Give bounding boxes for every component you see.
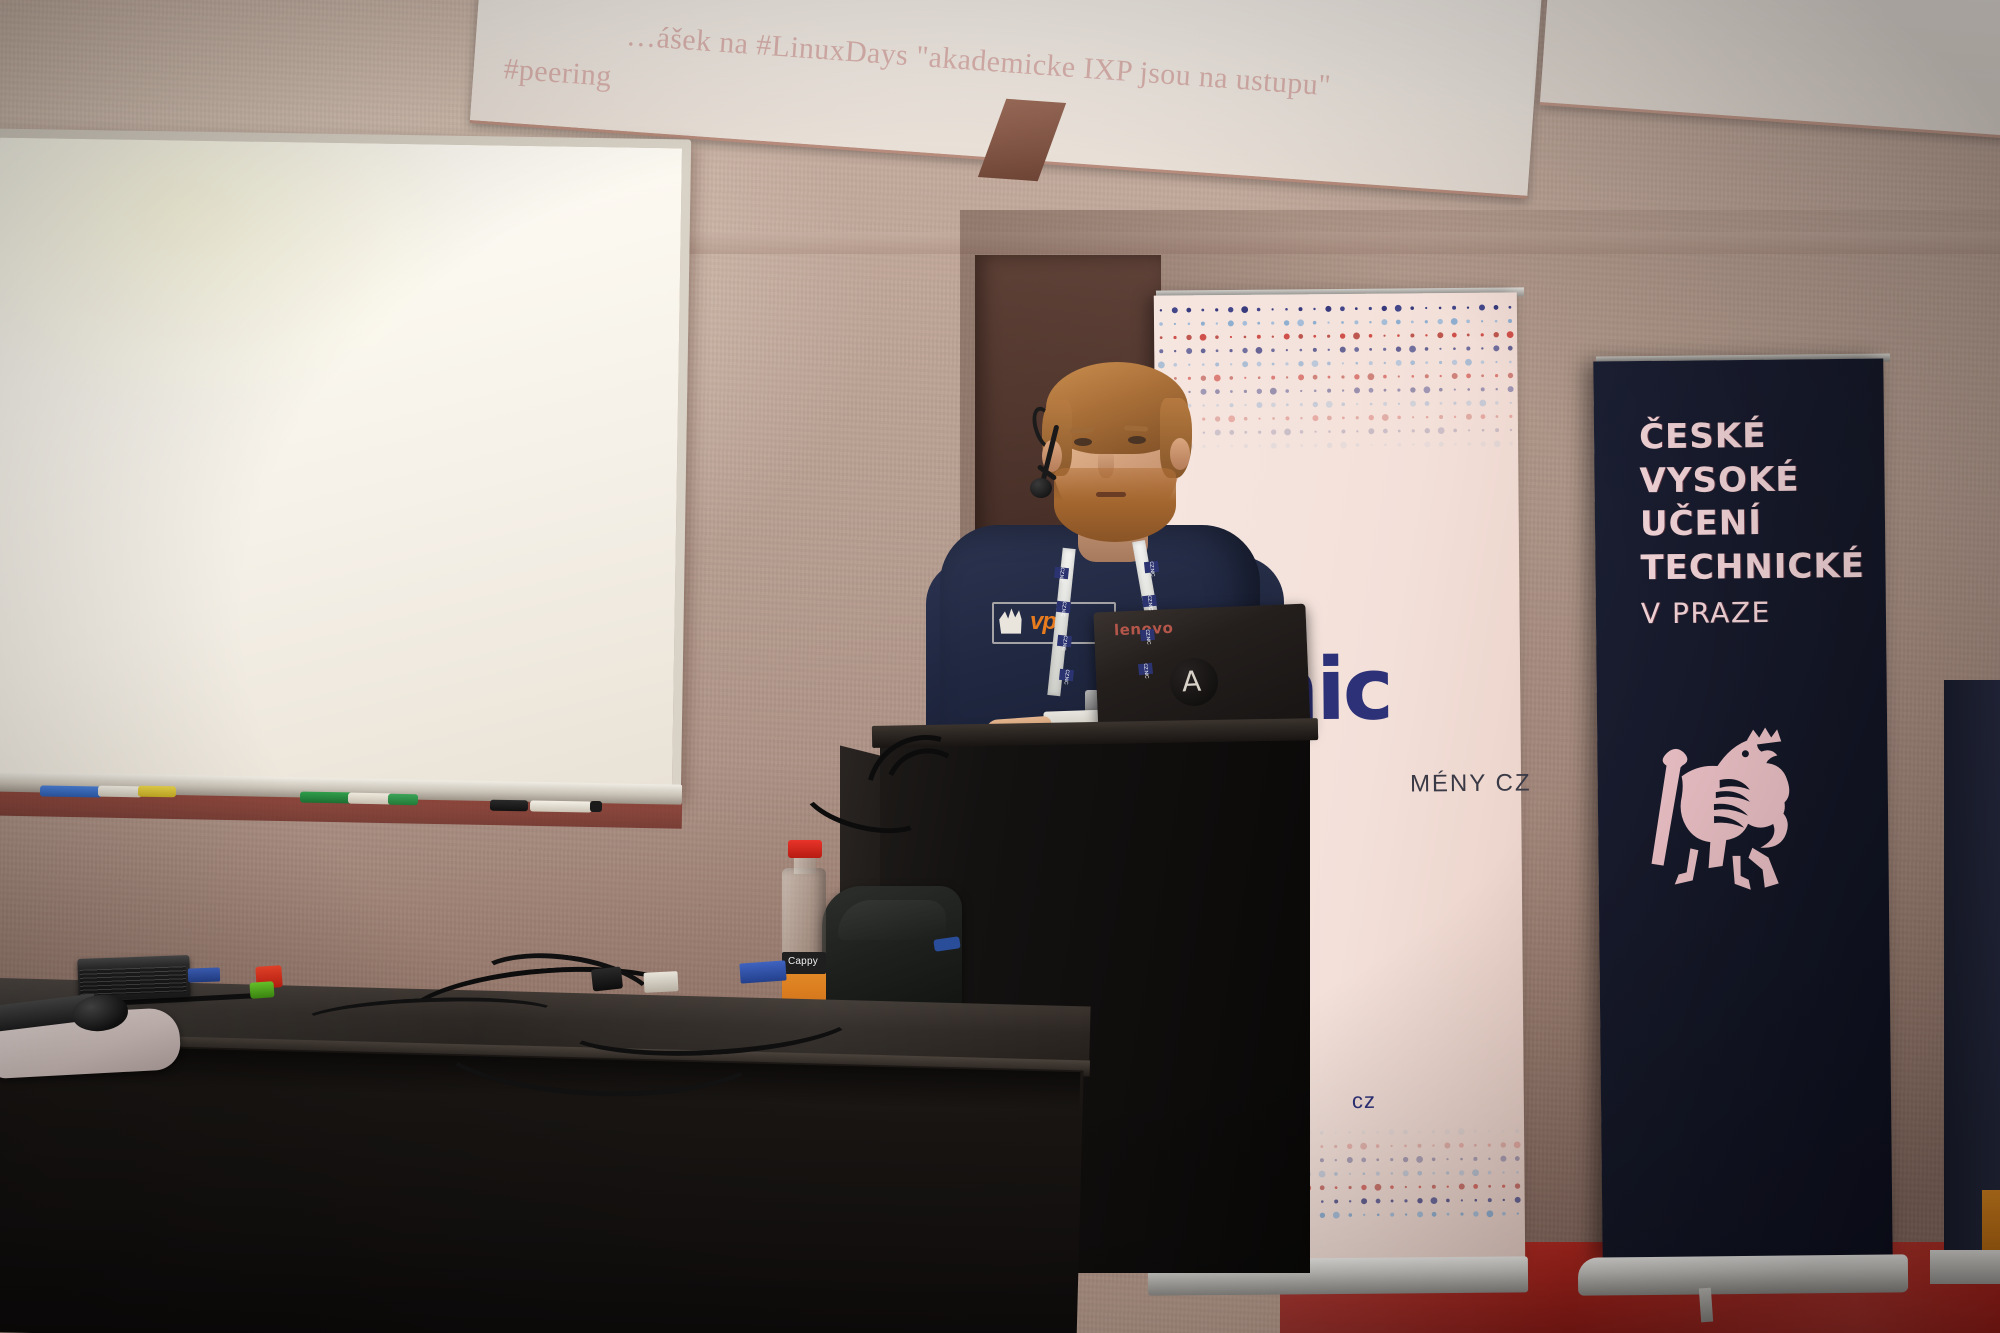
cable-clip-green bbox=[249, 981, 274, 999]
marker-yellow[interactable] bbox=[138, 786, 176, 798]
speaker-eye-right bbox=[1128, 436, 1146, 444]
headset-microphone-icon bbox=[1030, 478, 1052, 498]
juice-bottle-brand-text: Cappy bbox=[788, 956, 818, 967]
whiteboard-glare bbox=[0, 138, 682, 791]
lanyard-print: CZ.NIC bbox=[1057, 635, 1072, 647]
marker-green-2[interactable] bbox=[388, 794, 418, 806]
vga-connector-blue bbox=[188, 967, 220, 982]
vga-connector-loose bbox=[739, 960, 786, 983]
lanyard-print: CZ.NIC bbox=[1142, 595, 1157, 607]
marker-blue[interactable] bbox=[40, 785, 102, 797]
juice-bottle-cap bbox=[788, 840, 822, 858]
cvut-banner-base bbox=[1578, 1254, 1908, 1295]
power-plug bbox=[591, 966, 623, 991]
cvut-line-1: ČESKÉ bbox=[1639, 414, 1889, 460]
cvut-banner-foot bbox=[1699, 1288, 1713, 1323]
nic-dot-pattern-top bbox=[1154, 300, 1518, 453]
signal-converter-fins bbox=[80, 966, 187, 996]
backpack-fold bbox=[838, 900, 946, 940]
speaker-beard bbox=[1054, 468, 1176, 542]
marker-black-tip[interactable] bbox=[590, 801, 602, 812]
lanyard-print: CZ.NIC bbox=[1059, 669, 1074, 681]
marker-black[interactable] bbox=[490, 800, 528, 812]
third-banner-base bbox=[1930, 1250, 2000, 1284]
marker-green-body[interactable] bbox=[348, 793, 392, 805]
arch-linux-sticker-text: A bbox=[1181, 668, 1201, 697]
marker-green[interactable] bbox=[300, 792, 352, 804]
czech-lion-emblem-icon bbox=[1627, 717, 1819, 909]
lanyard-print: CZ.NIC bbox=[1056, 601, 1071, 613]
cvut-banner-text: ČESKÉ VYSOKÉ UČENÍ TECHNICKÉ V PRAZE bbox=[1639, 414, 1891, 632]
marker-white-body[interactable] bbox=[530, 800, 592, 812]
lecture-hall-photo: …ášek na #LinuxDays "akademicke IXP jsou… bbox=[0, 0, 2000, 1333]
whiteboard bbox=[0, 129, 691, 800]
speaker-eye-left bbox=[1074, 438, 1092, 446]
nic-subtitle: MÉNY CZ bbox=[1410, 769, 1532, 798]
marker-blue-body[interactable] bbox=[98, 786, 142, 798]
lanyard-print: CZ.NIC bbox=[1140, 629, 1155, 641]
white-connector bbox=[643, 971, 678, 993]
cvut-line-3: UČENÍ bbox=[1640, 501, 1890, 547]
speaker-ear-right bbox=[1170, 438, 1190, 470]
lanyard-print: CZ.NIC bbox=[1144, 561, 1159, 573]
cvut-line-4: TECHNICKÉ bbox=[1640, 544, 1890, 590]
speaker-mouth bbox=[1096, 492, 1126, 497]
lanyard-print: CZ.NIC bbox=[1054, 567, 1069, 579]
cvut-line-5: V PRAZE bbox=[1641, 594, 1891, 632]
third-banner-accent bbox=[1982, 1190, 2000, 1256]
cvut-line-2: VYSOKÉ bbox=[1639, 457, 1889, 503]
nic-footer-text: cz bbox=[1352, 1088, 1376, 1114]
lanyard-print: CZ.NIC bbox=[1138, 663, 1153, 675]
